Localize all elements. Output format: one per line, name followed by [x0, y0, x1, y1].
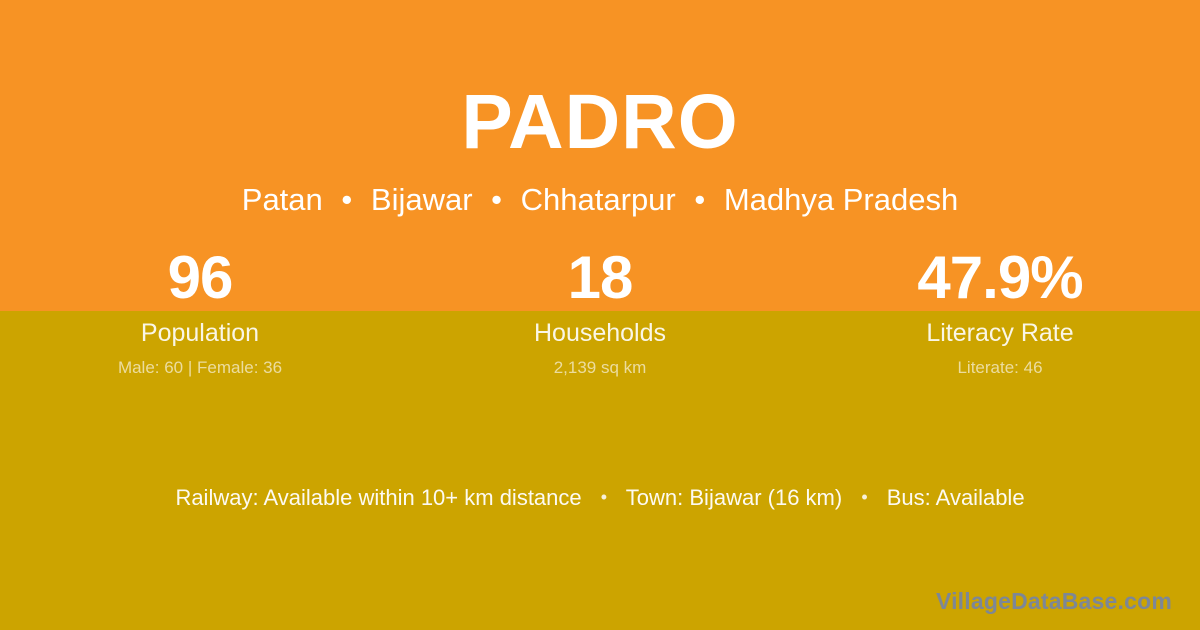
stat-population: 96 Population Male: 60 | Female: 36 [0, 246, 400, 378]
info-separator: • [848, 487, 880, 507]
breadcrumb-item-district: Chhatarpur [521, 182, 676, 217]
stat-value: 47.9% [800, 246, 1200, 311]
info-item-railway: Railway: Available within 10+ km distanc… [175, 485, 581, 510]
stat-households: 18 Households 2,139 sq km [400, 246, 800, 378]
info-separator: • [588, 487, 620, 507]
amenities-info-line: Railway: Available within 10+ km distanc… [0, 484, 1200, 513]
breadcrumb-item-state: Madhya Pradesh [724, 182, 958, 217]
info-item-bus: Bus: Available [887, 485, 1025, 510]
stats-row: 96 Population Male: 60 | Female: 36 18 H… [0, 246, 1200, 378]
site-watermark: VillageDataBase.com [936, 588, 1172, 616]
stat-label: Population [0, 318, 400, 348]
stat-value: 96 [0, 246, 400, 311]
stat-sublabel: Male: 60 | Female: 36 [0, 358, 400, 378]
breadcrumb-separator: • [684, 182, 715, 217]
page-title: PADRO [0, 84, 1200, 161]
breadcrumb-separator: • [331, 182, 362, 217]
breadcrumb-separator: • [481, 182, 512, 217]
breadcrumb-item-tehsil: Bijawar [371, 182, 473, 217]
stat-value: 18 [400, 246, 800, 311]
stat-label: Households [400, 318, 800, 348]
breadcrumb: Patan • Bijawar • Chhatarpur • Madhya Pr… [0, 181, 1200, 218]
stat-sublabel: 2,139 sq km [400, 358, 800, 378]
breadcrumb-item-block: Patan [242, 182, 323, 217]
stat-sublabel: Literate: 46 [800, 358, 1200, 378]
village-info-card: PADRO Patan • Bijawar • Chhatarpur • Mad… [0, 0, 1200, 630]
info-item-town: Town: Bijawar (16 km) [626, 485, 842, 510]
stat-literacy-rate: 47.9% Literacy Rate Literate: 46 [800, 246, 1200, 378]
stat-label: Literacy Rate [800, 318, 1200, 348]
